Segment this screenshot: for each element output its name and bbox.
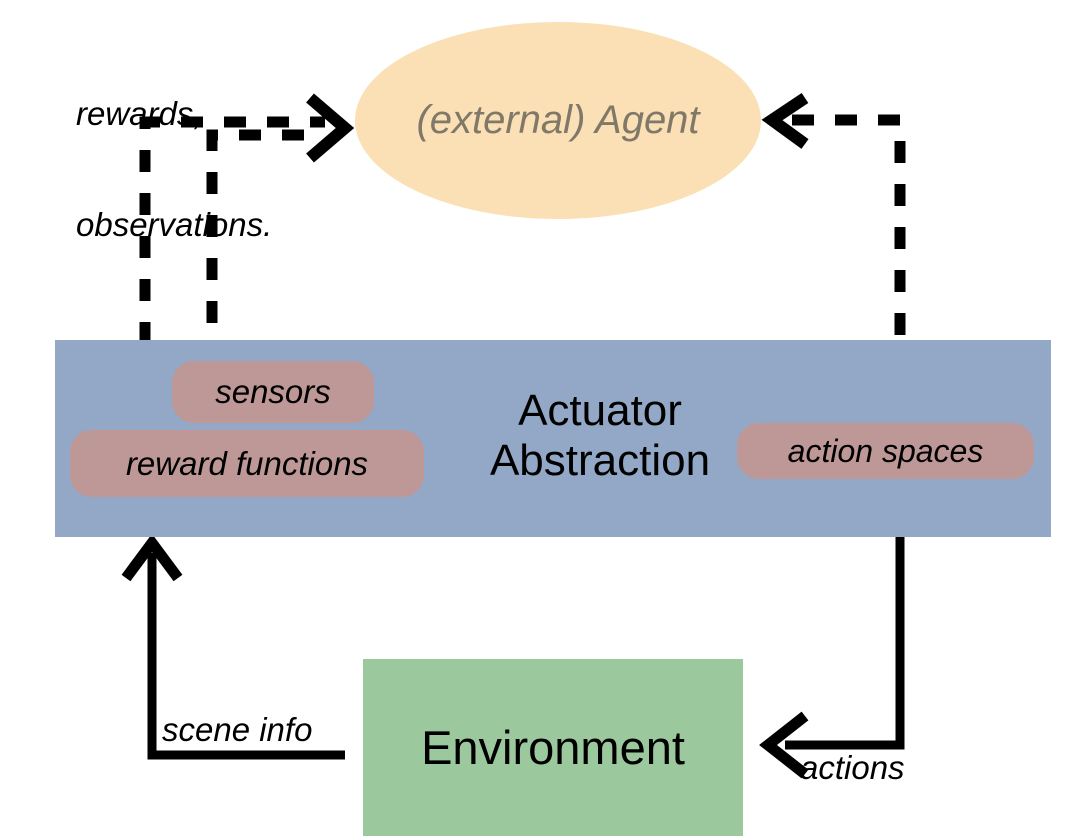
- edge-label-rewards-observations-line2: observations.: [76, 207, 272, 244]
- diagram-canvas: (external) Agent Actuator Abstraction se…: [0, 0, 1091, 836]
- edge-label-actions: actions: [800, 750, 905, 787]
- edge-label-rewards-observations-line1: rewards,: [76, 96, 272, 133]
- actuator-abstraction-title-line2: Abstraction: [465, 436, 735, 486]
- component-sensors[interactable]: sensors: [172, 361, 374, 423]
- agent-node-label: (external) Agent: [355, 22, 761, 219]
- component-reward-functions[interactable]: reward functions: [70, 430, 424, 497]
- component-action-spaces[interactable]: action spaces: [737, 423, 1034, 479]
- arrowhead-into-agent-icon: [310, 98, 345, 158]
- actuator-abstraction-title-line1: Actuator: [465, 386, 735, 436]
- edge-label-rewards-observations: rewards, observations.: [76, 22, 272, 318]
- environment-node-label: Environment: [363, 659, 743, 836]
- actuator-abstraction-title: Actuator Abstraction: [465, 386, 735, 486]
- edge-label-scene-info: scene info: [162, 712, 312, 749]
